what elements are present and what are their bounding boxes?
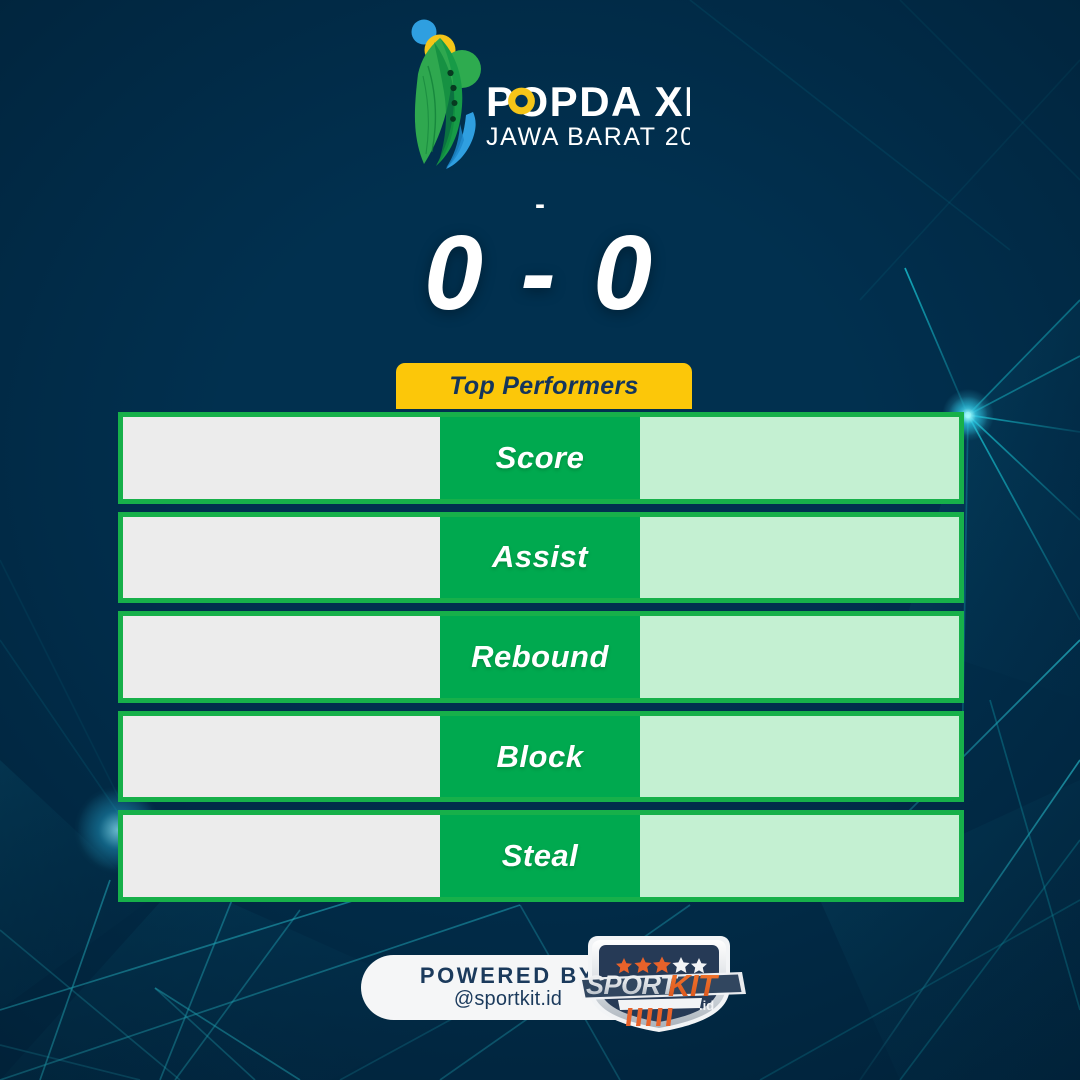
stat-label: Assist [492,539,588,575]
table-row: Steal [118,810,964,902]
top-performers-banner: Top Performers [396,363,692,409]
stat-label-cell: Block [440,711,640,803]
player-name-cell-right[interactable] [640,711,964,803]
top-performers-table: Score Assist Rebound Block [118,412,964,902]
player-name-cell-left[interactable] [118,512,440,604]
player-name-cell-left[interactable] [118,412,440,504]
top-performers-label: Top Performers [449,372,638,401]
popda-emblem-icon: POPDA XIV JAWA BARAT 2025 [390,12,690,177]
table-row: Rebound [118,611,964,703]
stat-label: Steal [502,838,579,874]
event-logo: POPDA XIV JAWA BARAT 2025 [0,12,1080,177]
stat-label-cell: Rebound [440,611,640,703]
table-row: Block [118,711,964,803]
stat-label-cell: Assist [440,512,640,604]
stat-label-cell: Score [440,412,640,504]
player-name-cell-right[interactable] [640,611,964,703]
sportkit-handle[interactable]: @sportkit.id [454,988,562,1011]
stat-label: Score [496,440,585,476]
sportkit-shield-logo-icon: SPORT KIT .id [556,928,762,1036]
stat-label-cell: Steal [440,810,640,902]
player-name-cell-right[interactable] [640,810,964,902]
table-row: Score [118,412,964,504]
player-name-cell-right[interactable] [640,412,964,504]
player-name-cell-left[interactable] [118,711,440,803]
poster-canvas: POPDA XIV JAWA BARAT 2025 - 0 - 0 Top Pe… [0,0,1080,1080]
player-name-cell-left[interactable] [118,611,440,703]
player-name-cell-right[interactable] [640,512,964,604]
stat-label: Block [497,739,584,775]
table-row: Assist [118,512,964,604]
player-name-cell-left[interactable] [118,810,440,902]
score-display: 0 - 0 [0,218,1080,329]
sportkit-word-primary: SPORT [586,970,679,1000]
logo-subtitle: JAWA BARAT 2025 [486,123,690,151]
stat-label: Rebound [471,639,609,675]
